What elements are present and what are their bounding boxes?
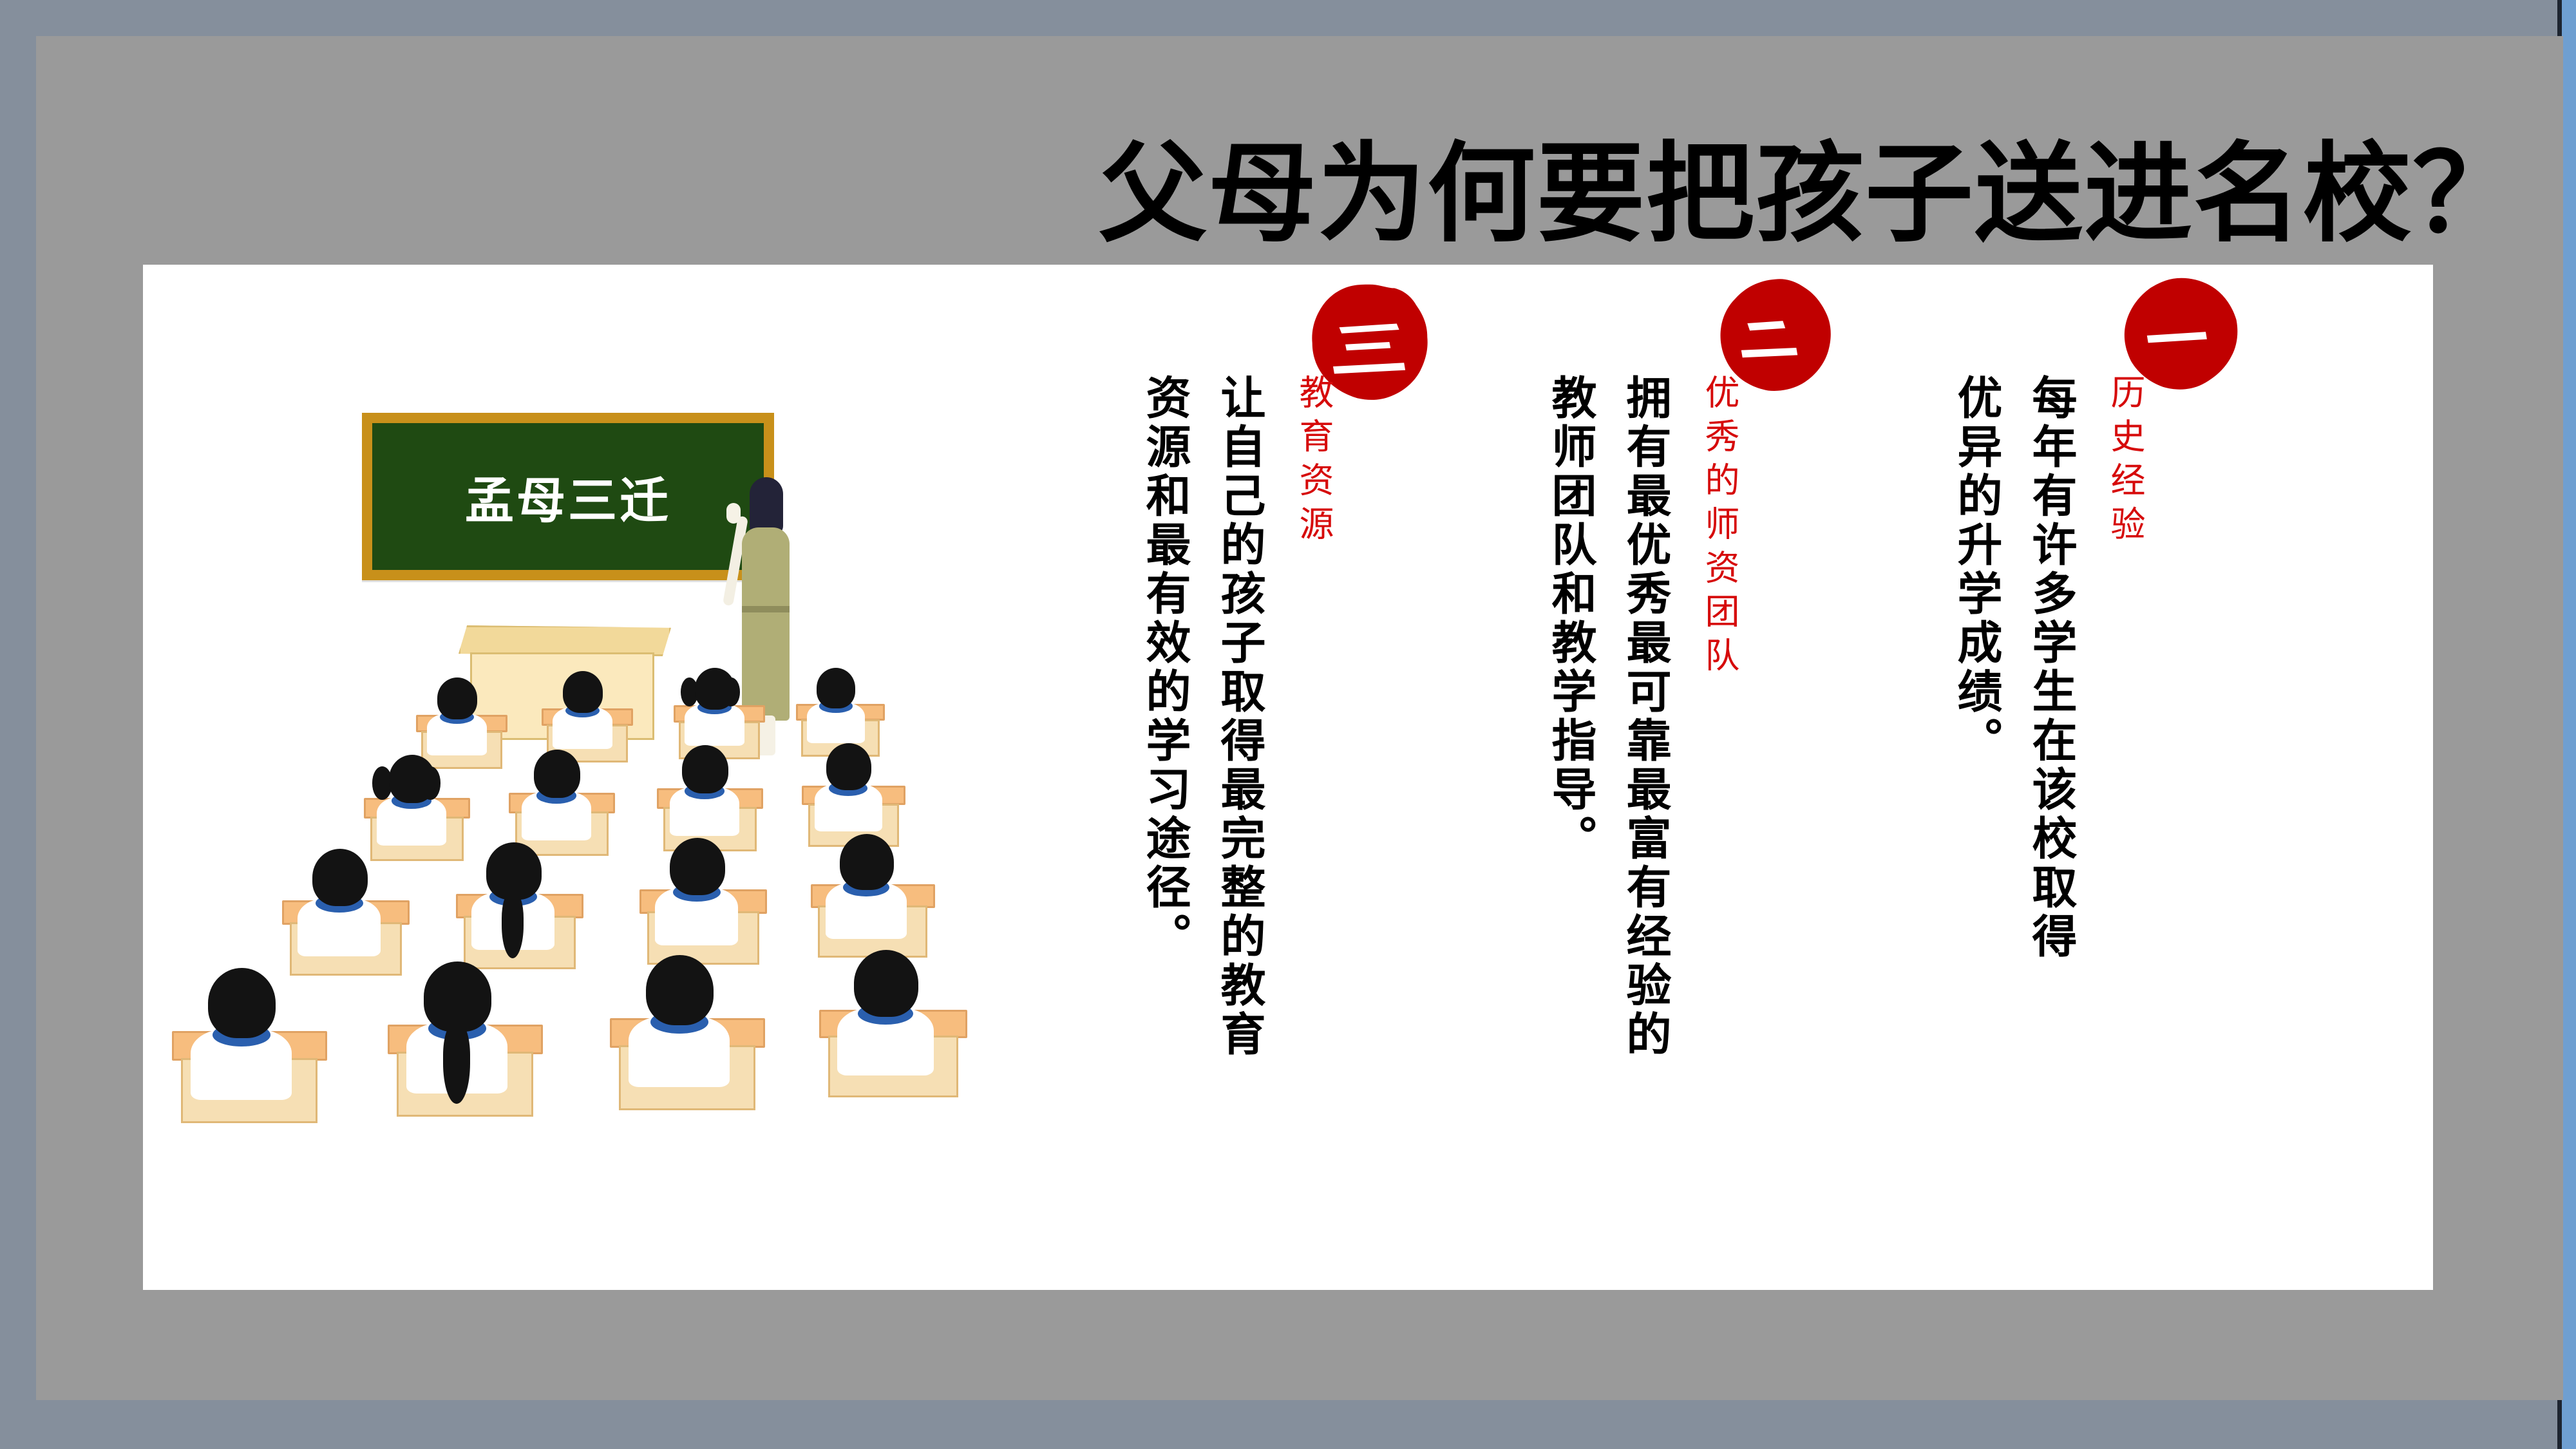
classroom-illustration: 孟母三迁 bbox=[36, 265, 1045, 1290]
student-hair bbox=[840, 834, 894, 890]
page-title: 父母为何要把孩子送进名校？ bbox=[1079, 133, 2522, 255]
point-line1-1: 每年有许多学生在该校取得 bbox=[2029, 374, 2074, 961]
student-hair bbox=[312, 849, 368, 906]
points-columns: 教育资源 让自己的孩子取得最完整的教育 资源和最有效的学习途径。 优秀的师资团队 bbox=[1077, 265, 2429, 1290]
student-hair bbox=[424, 961, 491, 1032]
point-line1-2: 拥有最优秀最可靠最富有经验的 bbox=[1623, 374, 1668, 1059]
student-hair bbox=[437, 677, 477, 719]
point-label-3: 教育资源 bbox=[1288, 374, 1339, 549]
student-figure bbox=[826, 949, 954, 1071]
student-figure bbox=[462, 841, 573, 946]
blackboard: 孟母三迁 bbox=[362, 413, 774, 580]
student-hair bbox=[826, 743, 871, 790]
slide-canvas: 父母为何要把孩子送进名校？ 孟母三迁 bbox=[36, 36, 2563, 1400]
student-figure bbox=[368, 754, 461, 842]
student-figure bbox=[545, 670, 625, 746]
slide-outer-frame: 父母为何要把孩子送进名校？ 孟母三迁 bbox=[0, 0, 2576, 1449]
teacher-hair bbox=[750, 477, 783, 535]
student-figure bbox=[513, 749, 606, 837]
student-hair bbox=[817, 668, 855, 708]
student-figure bbox=[645, 837, 756, 942]
point-line1-3: 让自己的孩子取得最完整的教育 bbox=[1217, 374, 1262, 1059]
student-hair bbox=[563, 671, 603, 712]
teacher-belt bbox=[742, 606, 790, 612]
student-figure bbox=[677, 667, 757, 743]
teacher-hand-with-chalk bbox=[726, 503, 741, 524]
student-figure bbox=[394, 960, 529, 1089]
student-hair bbox=[854, 950, 918, 1017]
student-hair bbox=[646, 955, 714, 1025]
student-hair bbox=[682, 745, 728, 793]
point-label-2: 优秀的师资团队 bbox=[1694, 374, 1745, 681]
student-hair bbox=[208, 968, 276, 1038]
point-label-1: 历史经验 bbox=[2099, 374, 2150, 549]
student-figure bbox=[806, 743, 896, 828]
student-figure bbox=[800, 667, 877, 741]
content-panel: 孟母三迁 bbox=[143, 265, 2433, 1290]
student-figure bbox=[816, 833, 924, 936]
student-hair bbox=[389, 755, 435, 803]
student-figure bbox=[420, 677, 500, 753]
student-figure bbox=[288, 848, 399, 952]
student-hair bbox=[534, 750, 580, 798]
student-hair bbox=[486, 842, 542, 900]
student-ponytail bbox=[443, 1023, 470, 1104]
student-figure bbox=[661, 744, 754, 833]
right-edge-blue-strip bbox=[2562, 0, 2576, 1449]
blackboard-text: 孟母三迁 bbox=[372, 461, 764, 532]
point-line2-2: 教师团队和教学指导。 bbox=[1548, 374, 1593, 864]
point-line2-1: 优异的升学成绩。 bbox=[1954, 374, 1999, 766]
student-figure bbox=[616, 954, 752, 1083]
student-hair bbox=[695, 668, 735, 709]
student-figure bbox=[178, 967, 314, 1095]
point-line2-3: 资源和最有效的学习途径。 bbox=[1142, 374, 1188, 961]
podium-top bbox=[459, 625, 671, 656]
student-hair bbox=[670, 838, 725, 895]
